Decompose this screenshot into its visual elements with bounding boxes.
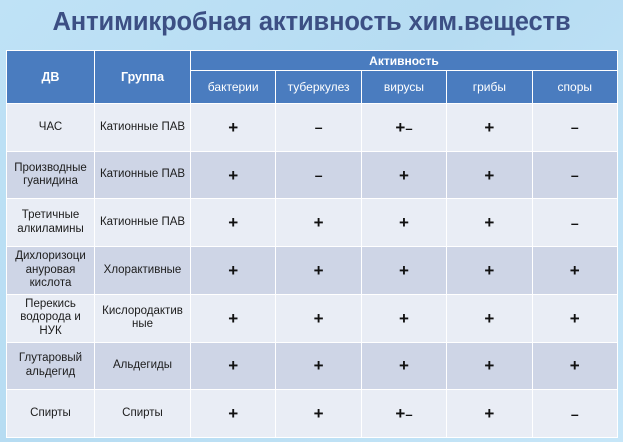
cell-activity-tuberculosis: + (276, 247, 361, 295)
cell-activity-tuberculosis: + (276, 390, 361, 438)
cell-group: Катионные ПАВ (95, 199, 191, 247)
cell-group: Кислородактив ные (95, 294, 191, 342)
table-row: Дихлоризоци ануровая кислотаХлорактивные… (7, 247, 618, 295)
table-body: ЧАСКатионные ПАВ+–+–+–Производные гуанид… (7, 104, 618, 438)
antimicrobial-activity-table: ДВ Группа Активность бактерии туберкулез… (6, 50, 618, 438)
cell-activity-spores: – (532, 390, 617, 438)
column-header-spores[interactable]: споры (532, 71, 617, 104)
cell-activity-fungi: + (447, 151, 532, 199)
table-row: Глутаровый альдегидАльдегиды+++++ (7, 342, 618, 390)
cell-activity-viruses: + (361, 294, 446, 342)
cell-activity-spores: + (532, 294, 617, 342)
cell-activity-tuberculosis: + (276, 294, 361, 342)
cell-activity-bacteria: + (191, 151, 276, 199)
cell-activity-fungi: + (447, 342, 532, 390)
column-header-group[interactable]: Группа (95, 51, 191, 104)
minus-glyph: – (405, 121, 412, 136)
cell-dv: Спирты (7, 390, 95, 438)
activity-table-container: ДВ Группа Активность бактерии туберкулез… (6, 50, 617, 438)
table-row: Перекись водорода и НУККислородактив ные… (7, 294, 618, 342)
cell-activity-bacteria: + (191, 294, 276, 342)
table-row: СпиртыСпирты+++–+– (7, 390, 618, 438)
cell-activity-tuberculosis: + (276, 342, 361, 390)
cell-group: Альдегиды (95, 342, 191, 390)
minus-glyph: – (405, 407, 412, 422)
cell-activity-viruses: + (361, 247, 446, 295)
cell-activity-tuberculosis: – (276, 104, 361, 152)
plus-glyph: + (395, 404, 405, 423)
table-head: ДВ Группа Активность бактерии туберкулез… (7, 51, 618, 104)
cell-dv: Перекись водорода и НУК (7, 294, 95, 342)
cell-activity-bacteria: + (191, 247, 276, 295)
column-header-bacteria[interactable]: бактерии (191, 71, 276, 104)
cell-activity-fungi: + (447, 247, 532, 295)
cell-activity-spores: + (532, 342, 617, 390)
cell-activity-fungi: + (447, 199, 532, 247)
cell-activity-viruses: + (361, 151, 446, 199)
cell-dv: Глутаровый альдегид (7, 342, 95, 390)
page-title: Антимикробная активность хим.веществ (0, 5, 623, 39)
cell-activity-tuberculosis: + (276, 199, 361, 247)
cell-activity-spores: – (532, 104, 617, 152)
cell-group: Спирты (95, 390, 191, 438)
plus-glyph: + (395, 118, 405, 137)
cell-activity-spores: – (532, 199, 617, 247)
column-header-viruses[interactable]: вирусы (361, 71, 446, 104)
cell-activity-spores: – (532, 151, 617, 199)
column-header-fungi[interactable]: грибы (447, 71, 532, 104)
cell-activity-fungi: + (447, 104, 532, 152)
column-header-activity-group: Активность (191, 51, 618, 71)
cell-activity-fungi: + (447, 390, 532, 438)
cell-group: Катионные ПАВ (95, 151, 191, 199)
cell-activity-viruses: +– (361, 104, 446, 152)
cell-activity-viruses: +– (361, 390, 446, 438)
cell-dv: Дихлоризоци ануровая кислота (7, 247, 95, 295)
cell-activity-bacteria: + (191, 390, 276, 438)
table-row: ЧАСКатионные ПАВ+–+–+– (7, 104, 618, 152)
slide-canvas: Антимикробная активность хим.веществ ДВ … (0, 0, 623, 442)
cell-activity-viruses: + (361, 199, 446, 247)
column-header-tuberculosis[interactable]: туберкулез (276, 71, 361, 104)
cell-group: Катионные ПАВ (95, 104, 191, 152)
table-row: Производные гуанидинаКатионные ПАВ+–++– (7, 151, 618, 199)
cell-dv: Производные гуанидина (7, 151, 95, 199)
table-row: Третичные алкиламиныКатионные ПАВ++++– (7, 199, 618, 247)
column-header-dv[interactable]: ДВ (7, 51, 95, 104)
cell-activity-viruses: + (361, 342, 446, 390)
cell-activity-bacteria: + (191, 199, 276, 247)
cell-activity-bacteria: + (191, 342, 276, 390)
cell-activity-spores: + (532, 247, 617, 295)
cell-dv: Третичные алкиламины (7, 199, 95, 247)
cell-dv: ЧАС (7, 104, 95, 152)
cell-activity-fungi: + (447, 294, 532, 342)
cell-activity-bacteria: + (191, 104, 276, 152)
cell-group: Хлорактивные (95, 247, 191, 295)
cell-activity-tuberculosis: – (276, 151, 361, 199)
table-header-row-top: ДВ Группа Активность (7, 51, 618, 71)
